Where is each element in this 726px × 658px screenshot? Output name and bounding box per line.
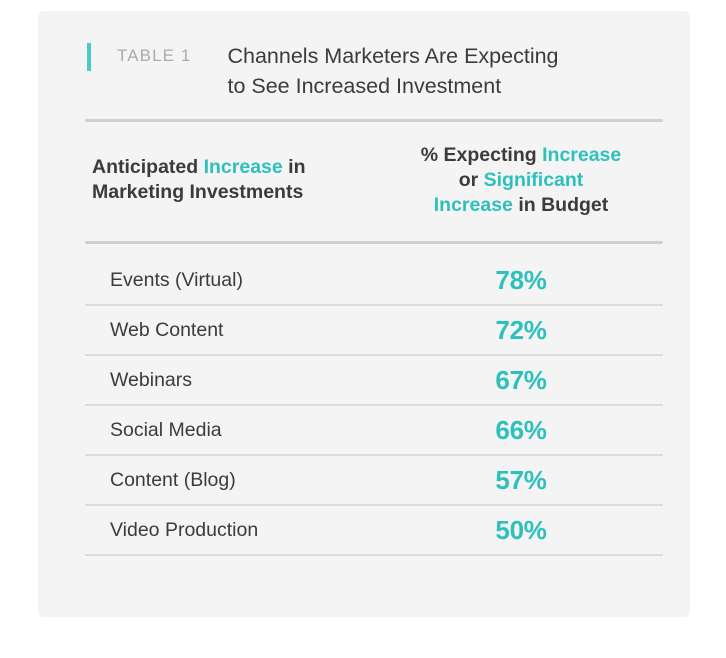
row-value: 57% xyxy=(397,465,663,496)
row-label: Video Production xyxy=(85,519,397,542)
page-title: Channels Marketers Are Expecting to See … xyxy=(227,41,660,101)
column-header-right: % Expecting Increase or Significant Incr… xyxy=(397,143,663,218)
col-left-text-2: in xyxy=(283,156,306,178)
row-value: 67% xyxy=(397,365,663,396)
col-left-line-2: Marketing Investments xyxy=(92,181,303,203)
row-label: Webinars xyxy=(85,369,397,392)
row-label: Content (Blog) xyxy=(85,469,397,492)
row-value: 66% xyxy=(397,415,663,446)
table-title-line-1: Channels Marketers Are Expecting xyxy=(227,41,660,71)
table-row: Webinars 67% xyxy=(85,356,663,406)
table-number-label: TABLE 1 xyxy=(117,41,191,71)
row-label: Web Content xyxy=(85,319,397,342)
table-title-line-2: to See Increased Investment xyxy=(227,71,660,101)
table-row: Content (Blog) 57% xyxy=(85,456,663,506)
col-right-text-1: % Expecting xyxy=(421,144,542,166)
row-value: 78% xyxy=(397,265,663,296)
col-right-text-3: in Budget xyxy=(513,194,608,216)
table-row: Social Media 66% xyxy=(85,406,663,456)
accent-bar-icon xyxy=(87,43,91,71)
col-left-text-1: Anticipated xyxy=(92,156,204,178)
row-value: 50% xyxy=(397,515,663,546)
table-column-headers: Anticipated Increase in Marketing Invest… xyxy=(85,143,663,218)
table-row: Video Production 50% xyxy=(85,506,663,556)
divider-header xyxy=(85,241,663,244)
column-header-left: Anticipated Increase in Marketing Invest… xyxy=(85,143,397,205)
table-body: Events (Virtual) 78% Web Content 72% Web… xyxy=(85,256,663,556)
row-label: Events (Virtual) xyxy=(85,269,397,292)
table-row: Events (Virtual) 78% xyxy=(85,256,663,306)
table-row: Web Content 72% xyxy=(85,306,663,356)
col-right-highlight-3: Increase xyxy=(434,194,513,216)
col-right-highlight-2: Significant xyxy=(484,169,584,191)
table-card: TABLE 1 Channels Marketers Are Expecting… xyxy=(38,11,690,617)
col-left-highlight: Increase xyxy=(204,156,283,178)
divider-title xyxy=(85,119,663,122)
row-value: 72% xyxy=(397,315,663,346)
row-label: Social Media xyxy=(85,419,397,442)
col-right-text-2: or xyxy=(459,169,484,191)
col-right-highlight-1: Increase xyxy=(542,144,621,166)
table-header: TABLE 1 Channels Marketers Are Expecting… xyxy=(87,41,660,101)
